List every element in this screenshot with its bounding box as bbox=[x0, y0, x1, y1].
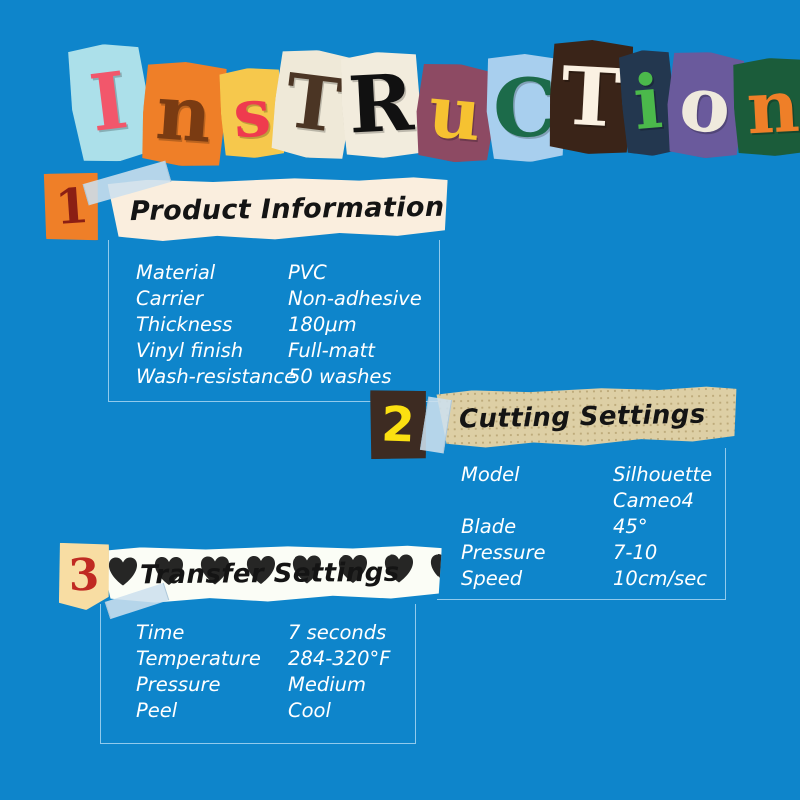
title-letter-n-1: n bbox=[139, 59, 228, 168]
spec-label: Speed bbox=[461, 566, 613, 592]
section-2-number: 2 bbox=[380, 400, 415, 449]
spec-label: Vinyl finish bbox=[136, 338, 288, 364]
section-3-content-box: Time7 secondsTemperature284-320°FPressur… bbox=[100, 608, 416, 744]
section-2-heading: Cutting Settings bbox=[459, 400, 706, 435]
spec-value: Non-adhesive bbox=[288, 286, 422, 312]
title-letter-r-4: R bbox=[339, 50, 422, 160]
title-letter-glyph: T bbox=[559, 55, 623, 138]
spec-row: CarrierNon-adhesive bbox=[136, 286, 422, 312]
spec-value: 45° bbox=[613, 514, 648, 540]
spec-row: Time7 seconds bbox=[136, 620, 390, 646]
spec-row: PeelCool bbox=[136, 698, 390, 724]
spec-row: Pressure7-10 bbox=[461, 540, 712, 566]
spec-row: Blade45° bbox=[461, 514, 712, 540]
poster-canvas: InsTRuCTions Product Information 1 Mater… bbox=[0, 0, 800, 800]
title-letter-glyph: o bbox=[677, 65, 733, 144]
title-letter-n-10: n bbox=[731, 56, 800, 158]
spec-value: Silhouette Cameo4 bbox=[613, 462, 712, 514]
section-3-heading: Transfer Settings bbox=[140, 558, 400, 591]
section-1-heading: Product Information bbox=[130, 191, 445, 226]
spec-row: PressureMedium bbox=[136, 672, 390, 698]
section-2-content-box: ModelSilhouette Cameo4Blade45°Pressure7-… bbox=[437, 452, 726, 600]
section-3-number-badge: 3 bbox=[57, 541, 111, 611]
spec-value: 10cm/sec bbox=[613, 566, 707, 592]
spec-label: Model bbox=[461, 462, 613, 488]
spec-value: 50 washes bbox=[288, 364, 392, 390]
spec-value: PVC bbox=[288, 260, 327, 286]
section-3-number: 3 bbox=[68, 553, 100, 598]
spec-label: Material bbox=[136, 260, 288, 286]
spec-row: Vinyl finishFull-matt bbox=[136, 338, 422, 364]
spec-row: Temperature284-320°F bbox=[136, 646, 390, 672]
spec-value: 7-10 bbox=[613, 540, 657, 566]
spec-label: Blade bbox=[461, 514, 613, 540]
spec-label: Peel bbox=[136, 698, 288, 724]
title-letter-glyph: u bbox=[426, 75, 484, 151]
section-2-number-badge: 2 bbox=[368, 389, 428, 461]
section-2-header-strip: Cutting Settings bbox=[436, 385, 737, 449]
spec-row: Speed10cm/sec bbox=[461, 566, 712, 592]
spec-value: Cool bbox=[288, 698, 331, 724]
title-letter-glyph: T bbox=[281, 64, 345, 144]
title-letter-glyph: s bbox=[231, 79, 273, 147]
section-1-rows: MaterialPVCCarrierNon-adhesiveThickness1… bbox=[136, 260, 422, 390]
spec-label: Thickness bbox=[136, 312, 288, 338]
spec-label: Pressure bbox=[136, 672, 288, 698]
title-letter-glyph: R bbox=[347, 64, 416, 145]
spec-label: Temperature bbox=[136, 646, 288, 672]
spec-value: 284-320°F bbox=[288, 646, 390, 672]
spec-value: Medium bbox=[288, 672, 366, 698]
spec-label: Pressure bbox=[461, 540, 613, 566]
spec-value: Full-matt bbox=[288, 338, 375, 364]
spec-label: Wash-resistance bbox=[136, 364, 288, 390]
section-1-content-box: MaterialPVCCarrierNon-adhesiveThickness1… bbox=[108, 246, 440, 402]
spec-row: MaterialPVC bbox=[136, 260, 422, 286]
section-3-rows: Time7 secondsTemperature284-320°FPressur… bbox=[136, 620, 390, 724]
title-letter-glyph: n bbox=[154, 74, 214, 154]
spec-row: Thickness180μm bbox=[136, 312, 422, 338]
spec-row: Wash-resistance50 washes bbox=[136, 364, 422, 390]
title-letter-glyph: n bbox=[745, 70, 800, 145]
page-title: InsTRuCTions bbox=[70, 22, 750, 182]
spec-value: 180μm bbox=[288, 312, 357, 338]
spec-row: ModelSilhouette Cameo4 bbox=[461, 462, 712, 514]
spec-label: Time bbox=[136, 620, 288, 646]
section-1-header-strip: Product Information bbox=[108, 176, 449, 243]
section-2-rows: ModelSilhouette Cameo4Blade45°Pressure7-… bbox=[461, 462, 712, 592]
spec-value: 7 seconds bbox=[288, 620, 386, 646]
spec-label: Carrier bbox=[136, 286, 288, 312]
